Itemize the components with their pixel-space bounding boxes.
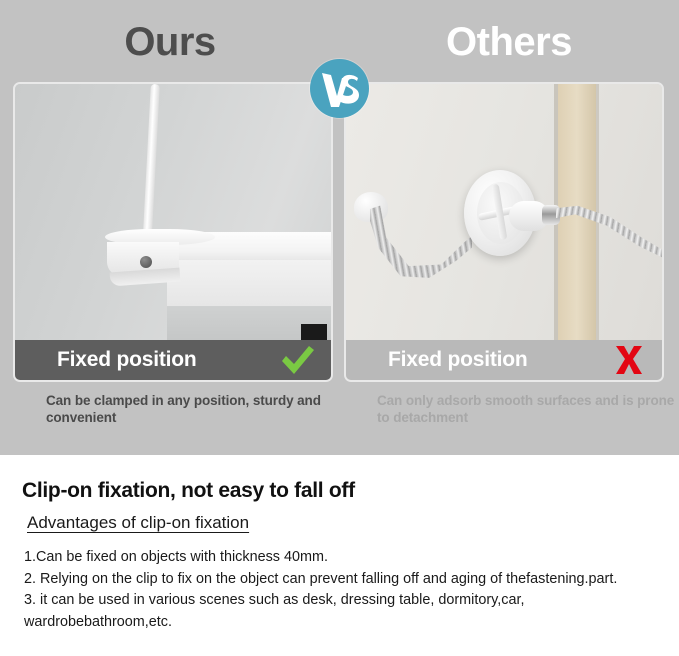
ours-label-text: Fixed position — [57, 348, 197, 372]
ours-product-photo — [15, 84, 331, 342]
others-title: Others — [339, 16, 679, 68]
ours-panel: Fixed position — [13, 82, 333, 382]
check-icon — [279, 345, 317, 375]
info-line-3: 3. it can be used in various scenes such… — [24, 590, 658, 633]
info-subheading: Advantages of clip-on fixation — [27, 513, 249, 533]
vs-icon — [318, 69, 362, 109]
others-caption: Can only adsorb smooth surfaces and is p… — [377, 392, 677, 426]
ours-caption: Can be clamped in any position, sturdy a… — [46, 392, 346, 426]
cross-icon — [610, 345, 648, 375]
others-panel: Fixed position — [344, 82, 664, 382]
others-product-photo — [346, 84, 662, 342]
info-heading: Clip-on fixation, not easy to fall off — [22, 479, 355, 503]
desk-edge — [167, 260, 331, 306]
info-body: 1.Can be fixed on objects with thickness… — [24, 547, 658, 633]
others-label-bar: Fixed position — [346, 340, 662, 380]
info-section: Clip-on fixation, not easy to fall off A… — [0, 455, 679, 656]
info-line-2: 2. Relying on the clip to fix on the obj… — [24, 569, 658, 591]
clamp-pivot-screw — [140, 256, 152, 268]
others-label-text: Fixed position — [388, 348, 528, 372]
vs-badge — [310, 59, 369, 118]
info-line-1: 1.Can be fixed on objects with thickness… — [24, 547, 658, 569]
comparison-section: Ours Others — [0, 0, 679, 455]
ours-label-bar: Fixed position — [15, 340, 331, 380]
product-comparison-page: Ours Others — [0, 0, 679, 656]
ours-title: Ours — [0, 16, 340, 68]
